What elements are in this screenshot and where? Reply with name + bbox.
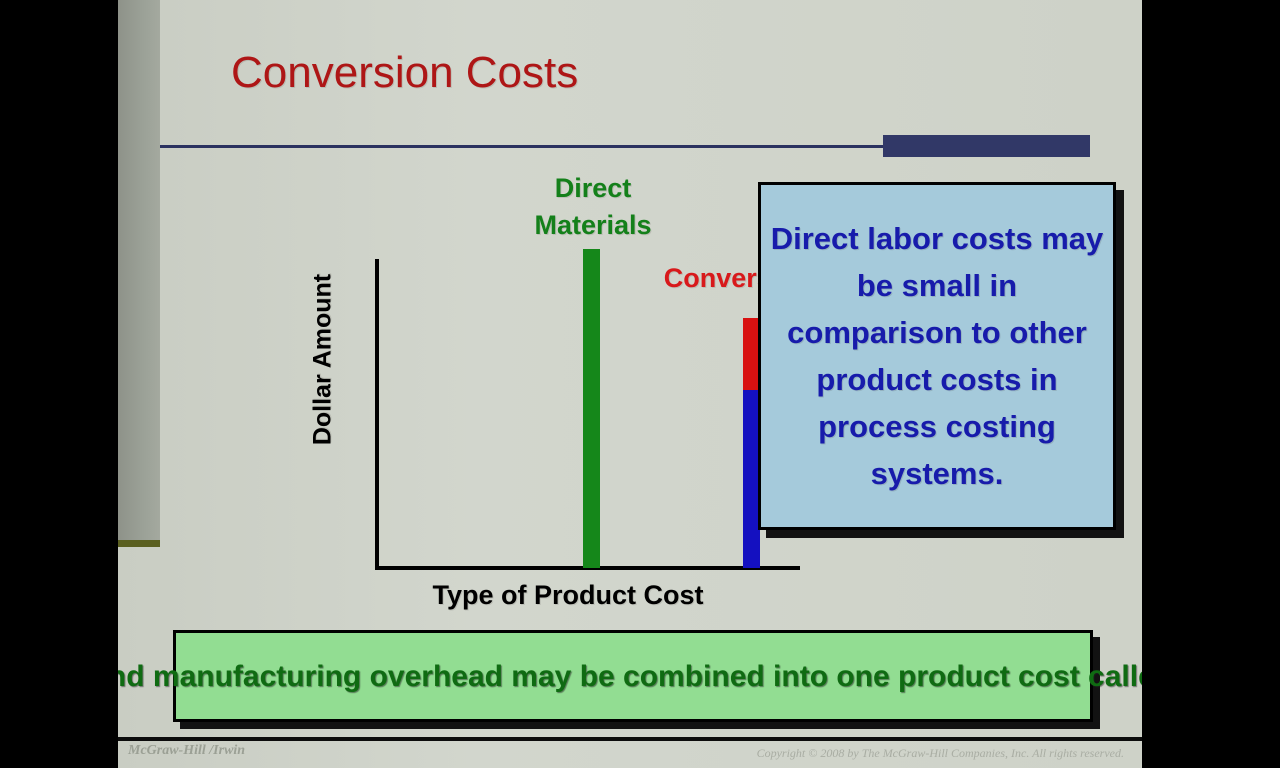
footer-copyright: Copyright © 2008 by The McGraw-Hill Comp… [757, 746, 1124, 761]
bar-label-direct-materials-line2: Materials [534, 210, 651, 240]
callout-direct-labor-note-text: Direct labor costs may be small in compa… [761, 215, 1113, 497]
callout-conversion-text-before: Direct labor and manufacturing overhead … [118, 660, 1142, 693]
bar-label-direct-materials-line1: Direct [555, 173, 632, 203]
y-axis-line [375, 259, 379, 569]
bar-label-direct-materials: Direct Materials [503, 170, 683, 244]
page-title: Conversion Costs [231, 44, 578, 102]
bar-direct-materials [583, 249, 600, 568]
bar-chart: Direct Materials Conversion Dollar Amoun… [198, 160, 798, 620]
left-decorative-band [118, 0, 160, 543]
callout-conversion-definition: Direct labor and manufacturing overhead … [173, 630, 1093, 722]
y-axis-label: Dollar Amount [309, 230, 338, 490]
footer-publisher: McGraw-Hill /Irwin [128, 743, 245, 759]
presentation-screen: Conversion Costs Direct Materials Conver… [0, 0, 1280, 768]
slide-canvas: Conversion Costs Direct Materials Conver… [118, 0, 1142, 768]
x-axis-label: Type of Product Cost [328, 580, 808, 611]
footer-divider [118, 737, 1142, 741]
title-divider-block [883, 135, 1090, 157]
callout-conversion-definition-text: Direct labor and manufacturing overhead … [118, 654, 1142, 699]
left-band-accent-bar [118, 540, 160, 547]
callout-direct-labor-note: Direct labor costs may be small in compa… [758, 182, 1116, 530]
